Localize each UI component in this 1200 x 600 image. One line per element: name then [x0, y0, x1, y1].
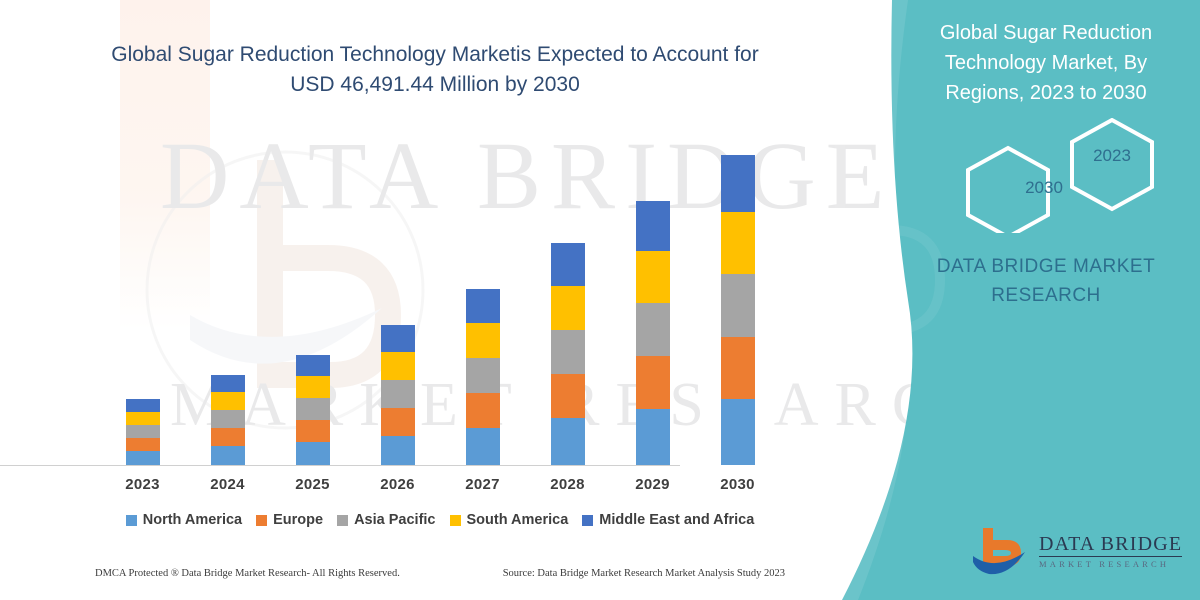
footer-bar: DMCA Protected ® Data Bridge Market Rese…: [95, 568, 785, 579]
hexagon-label-2023: 2023: [1072, 146, 1152, 166]
bar-segment-asia-pacific: [721, 274, 755, 337]
bar-segment-middle-east-and-africa: [381, 325, 415, 352]
bar-segment-south-america: [211, 392, 245, 410]
chart-title: Global Sugar Reduction Technology Market…: [95, 40, 775, 100]
x-axis-label-2025: 2025: [270, 476, 355, 493]
bar-segment-asia-pacific: [381, 380, 415, 408]
bar-column-2029: [610, 120, 695, 465]
legend-swatch-icon: [337, 515, 348, 526]
x-axis-labels: 20232024202520262027202820292030: [100, 476, 780, 493]
bar-segment-south-america: [126, 412, 160, 425]
bar-segment-asia-pacific: [126, 425, 160, 438]
legend-label: South America: [467, 512, 569, 528]
bar-segment-europe: [551, 374, 585, 418]
legend-swatch-icon: [256, 515, 267, 526]
legend-item-europe[interactable]: Europe: [256, 512, 323, 528]
bar-stack: [466, 289, 500, 465]
footer-source: Source: Data Bridge Market Research Mark…: [503, 568, 785, 579]
bar-segment-middle-east-and-africa: [126, 399, 160, 412]
bar-segment-north-america: [721, 399, 755, 465]
x-axis-label-2023: 2023: [100, 476, 185, 493]
logo-line-2: MARKET RESEARCH: [1039, 560, 1182, 569]
bar-column-2025: [270, 120, 355, 465]
bar-segment-middle-east-and-africa: [636, 201, 670, 251]
bar-segment-north-america: [211, 446, 245, 465]
data-bridge-logo: DATA BRIDGE MARKET RESEARCH: [969, 520, 1184, 582]
bar-segment-middle-east-and-africa: [296, 355, 330, 376]
bar-segment-south-america: [381, 352, 415, 380]
bar-segment-europe: [721, 337, 755, 399]
legend-item-middle-east-and-africa[interactable]: Middle East and Africa: [582, 512, 754, 528]
legend-item-asia-pacific[interactable]: Asia Pacific: [337, 512, 435, 528]
legend-label: Europe: [273, 512, 323, 528]
bar-segment-asia-pacific: [466, 358, 500, 393]
chart-plot-area: [100, 120, 780, 465]
bar-stack: [296, 355, 330, 465]
data-bridge-b-mark-icon: [969, 522, 1031, 580]
bar-segment-north-america: [636, 409, 670, 465]
bar-stack: [126, 399, 160, 465]
logo-wordmark: DATA BRIDGE MARKET RESEARCH: [1039, 534, 1182, 569]
bar-segment-middle-east-and-africa: [721, 155, 755, 212]
bar-segment-europe: [126, 438, 160, 451]
bar-segment-asia-pacific: [296, 398, 330, 420]
bar-segment-south-america: [296, 376, 330, 398]
legend-swatch-icon: [582, 515, 593, 526]
bar-segment-north-america: [126, 451, 160, 465]
panel-title: Global Sugar Reduction Technology Market…: [910, 18, 1182, 108]
bar-column-2023: [100, 120, 185, 465]
legend-swatch-icon: [126, 515, 137, 526]
bars-container: [100, 120, 780, 465]
bar-column-2026: [355, 120, 440, 465]
legend-label: Asia Pacific: [354, 512, 435, 528]
legend-swatch-icon: [450, 515, 461, 526]
x-axis-label-2028: 2028: [525, 476, 610, 493]
bar-segment-middle-east-and-africa: [211, 375, 245, 392]
bar-segment-north-america: [466, 428, 500, 465]
infographic-root: DATA BRIDGE MARKET RESEARCH Global Sugar…: [0, 0, 1200, 600]
bar-segment-south-america: [551, 286, 585, 330]
bar-segment-asia-pacific: [211, 410, 245, 428]
bar-segment-middle-east-and-africa: [466, 289, 500, 323]
x-axis-label-2029: 2029: [610, 476, 695, 493]
bar-stack: [381, 325, 415, 465]
bar-segment-north-america: [296, 442, 330, 465]
bar-segment-europe: [466, 393, 500, 428]
bar-segment-europe: [296, 420, 330, 442]
x-axis-label-2027: 2027: [440, 476, 525, 493]
bar-stack: [636, 201, 670, 465]
legend-label: North America: [143, 512, 242, 528]
bar-segment-north-america: [551, 418, 585, 465]
bar-column-2024: [185, 120, 270, 465]
bar-segment-asia-pacific: [551, 330, 585, 374]
bar-stack: [721, 155, 755, 465]
bar-segment-europe: [381, 408, 415, 436]
legend-item-north-america[interactable]: North America: [126, 512, 242, 528]
bar-segment-europe: [211, 428, 245, 446]
bar-segment-europe: [636, 356, 670, 409]
bar-column-2030: [695, 120, 780, 465]
bar-column-2027: [440, 120, 525, 465]
hexagon-shapes-icon: [908, 118, 1188, 233]
hexagon-label-2030: 2030: [1004, 178, 1084, 198]
bar-segment-asia-pacific: [636, 303, 670, 356]
bar-segment-north-america: [381, 436, 415, 465]
logo-line-1: DATA BRIDGE: [1039, 534, 1182, 557]
bar-segment-south-america: [636, 251, 670, 303]
bar-column-2028: [525, 120, 610, 465]
legend-item-south-america[interactable]: South America: [450, 512, 569, 528]
footer-copyright: DMCA Protected ® Data Bridge Market Rese…: [95, 568, 400, 579]
chart-legend: North AmericaEuropeAsia PacificSouth Ame…: [100, 512, 780, 528]
panel-brand-text: DATA BRIDGE MARKET RESEARCH: [910, 252, 1182, 310]
x-axis-label-2026: 2026: [355, 476, 440, 493]
hexagon-group: 2030 2023: [908, 118, 1188, 233]
x-axis-label-2024: 2024: [185, 476, 270, 493]
bar-stack: [551, 243, 585, 465]
bar-segment-middle-east-and-africa: [551, 243, 585, 286]
bar-segment-south-america: [721, 212, 755, 274]
x-axis-label-2030: 2030: [695, 476, 780, 493]
bar-segment-south-america: [466, 323, 500, 358]
x-axis-line: [0, 465, 680, 466]
bar-stack: [211, 375, 245, 465]
legend-label: Middle East and Africa: [599, 512, 754, 528]
